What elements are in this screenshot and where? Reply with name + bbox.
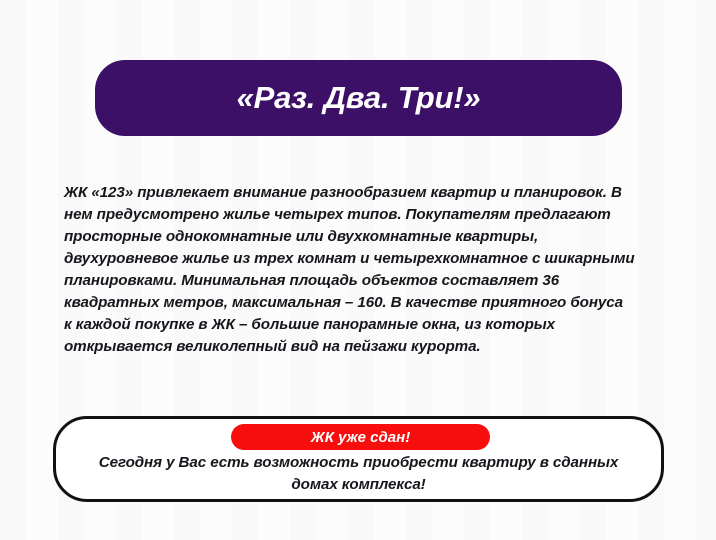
page-title: «Раз. Два. Три!» — [237, 80, 481, 116]
body-line: двухуровневое жилье из трех комнат и чет… — [64, 248, 662, 270]
callout-line: домах комплекса! — [53, 474, 664, 496]
body-paragraph: ЖК «123» привлекает внимание разнообрази… — [64, 182, 662, 358]
slide-canvas: «Раз. Два. Три!» ЖК «123» привлекает вни… — [0, 0, 716, 540]
body-line: открывается великолепный вид на пейзажи … — [64, 336, 662, 358]
body-line: планировками. Минимальная площадь объект… — [64, 270, 662, 292]
callout-line: Сегодня у Вас есть возможность приобрест… — [53, 452, 664, 474]
status-badge-label: ЖК уже сдан! — [311, 429, 410, 446]
title-banner: «Раз. Два. Три!» — [95, 60, 622, 136]
status-badge: ЖК уже сдан! — [231, 424, 490, 450]
callout-text: Сегодня у Вас есть возможность приобрест… — [53, 452, 664, 496]
body-line: ЖК «123» привлекает внимание разнообрази… — [64, 182, 662, 204]
body-line: просторные однокомнатные или двухкомнатн… — [64, 226, 662, 248]
body-line: квадратных метров, максимальная – 160. В… — [64, 292, 662, 314]
body-line: нем предусмотрено жилье четырех типов. П… — [64, 204, 662, 226]
body-line: к каждой покупке в ЖК – большие панорамн… — [64, 314, 662, 336]
